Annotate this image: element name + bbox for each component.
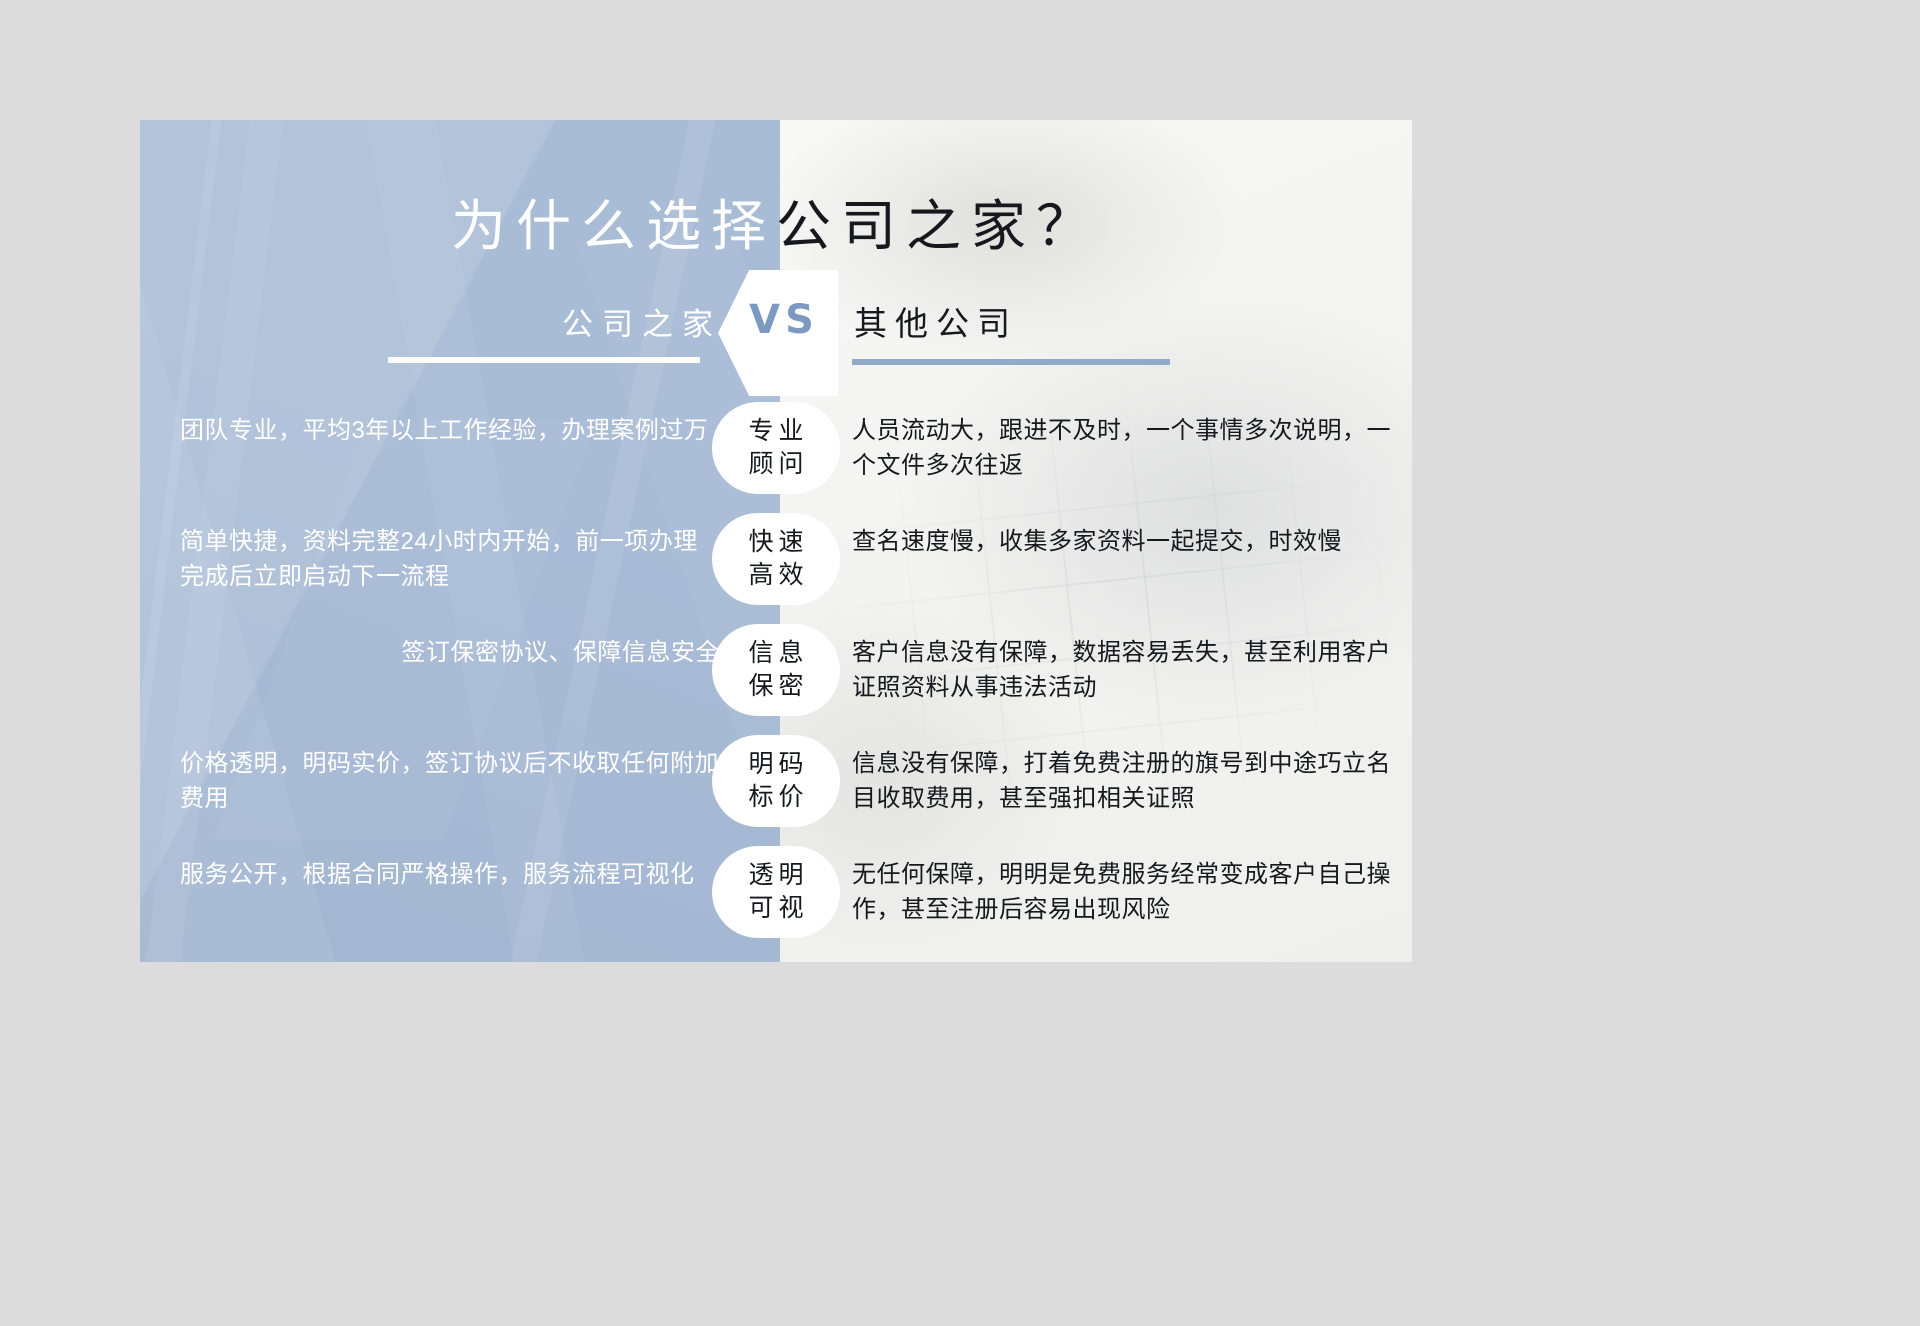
comparison-row: 签订保密协议、保障信息安全 信息 保密 客户信息没有保障，数据容易丢失，甚至利用… [140,614,1412,725]
row-right-text: 信息没有保障，打着免费注册的旗号到中途巧立名目收取费用，甚至强扣相关证照 [852,746,1397,816]
comparison-row: 团队专业，平均3年以上工作经验，办理案例过万 专业 顾问 人员流动大，跟进不及时… [140,392,1412,503]
title-white-segment: 为什么选择 [451,181,776,261]
row-right-text: 查名速度慢，收集多家资料一起提交，时效慢 [852,524,1397,559]
row-left-text: 价格透明，明码实价，签订协议后不收取任何附加费用 [180,746,720,816]
row-category-line-1: 信息 [743,637,808,670]
page-title: 为什么选择公司之家？ [140,182,1412,260]
vs-label: VS [736,297,832,343]
row-right-text: 无任何保障，明明是免费服务经常变成客户自己操作，甚至注册后容易出现风险 [852,857,1397,927]
versus-header: 公司之家 VS 其他公司 [140,285,1412,380]
column-header-right: 其他公司 [854,297,1018,345]
column-header-left-underline [388,357,700,363]
row-left-text: 签订保密协议、保障信息安全 [180,635,720,670]
row-category-line-1: 专业 [743,415,808,448]
title-dark-segment: 公司之家？ [776,181,1101,261]
slide-stage: 为什么选择公司之家？ 公司之家 VS 其他公司 团队专业，平均3年以上工作经验，… [0,0,1920,1326]
row-category-badge: 快速 高效 [712,513,840,605]
row-category-badge: 信息 保密 [712,624,840,716]
row-right-text: 人员流动大，跟进不及时，一个事情多次说明，一个文件多次往返 [852,413,1397,483]
row-category-badge: 透明 可视 [712,846,840,938]
row-left-text: 服务公开，根据合同严格操作，服务流程可视化 [180,857,720,892]
row-category-line-1: 快速 [743,526,808,559]
comparison-row: 价格透明，明码实价，签订协议后不收取任何附加费用 明码 标价 信息没有保障，打着… [140,725,1412,836]
row-category-line-2: 高效 [743,559,808,592]
row-left-text: 团队专业，平均3年以上工作经验，办理案例过万 [180,413,720,448]
comparison-row: 服务公开，根据合同严格操作，服务流程可视化 透明 可视 无任何保障，明明是免费服… [140,836,1412,947]
row-category-line-1: 明码 [743,748,808,781]
comparison-card: 为什么选择公司之家？ 公司之家 VS 其他公司 团队专业，平均3年以上工作经验，… [140,120,1412,962]
row-category-badge: 专业 顾问 [712,402,840,494]
comparison-rows: 团队专业，平均3年以上工作经验，办理案例过万 专业 顾问 人员流动大，跟进不及时… [140,392,1412,947]
row-category-badge: 明码 标价 [712,735,840,827]
row-category-line-2: 标价 [743,781,808,814]
row-category-line-2: 可视 [743,892,808,925]
row-left-text: 简单快捷，资料完整24小时内开始，前一项办理完成后立即启动下一流程 [180,524,720,594]
row-right-text: 客户信息没有保障，数据容易丢失，甚至利用客户证照资料从事违法活动 [852,635,1397,705]
row-category-line-1: 透明 [743,859,808,892]
comparison-row: 简单快捷，资料完整24小时内开始，前一项办理完成后立即启动下一流程 快速 高效 … [140,503,1412,614]
column-header-left: 公司之家 [390,299,722,344]
row-category-line-2: 保密 [743,670,808,703]
column-header-right-underline [852,359,1170,365]
row-category-line-2: 顾问 [743,448,808,481]
